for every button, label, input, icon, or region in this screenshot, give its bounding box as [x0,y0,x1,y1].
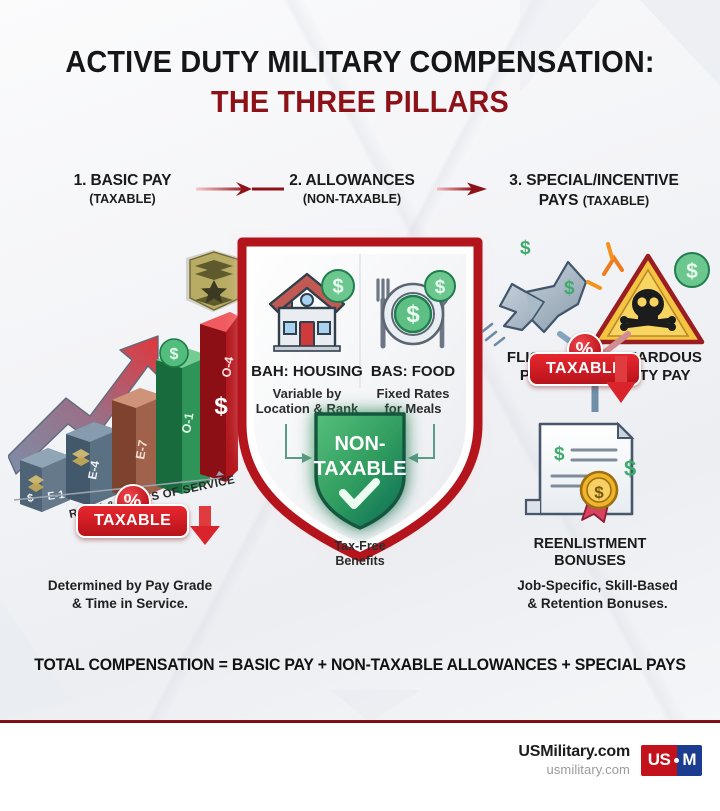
footer-brand: USMilitary.com [518,743,630,761]
svg-text:$: $ [554,444,565,465]
caption-left-line1: Determined by Pay Grade [20,577,240,595]
arrow-right-icon [437,182,489,196]
pillar-header-allowances: 2. ALLOWANCES (NON-TAXABLE) [252,172,452,206]
certificate-icon: $ $ $ [526,424,636,522]
dollar-mark: $ [564,278,575,299]
taxable-badge-basic-pay: % TAXABLE [76,504,189,538]
special-pays-graphic: $ $ $ FLIGHT [482,228,714,568]
svg-text:$: $ [686,260,698,283]
logo-dot-icon [674,758,679,763]
caption-right-line2: & Retention Bonuses. [480,595,715,613]
non-taxable-line1: NON- [334,433,385,455]
pillar-1-sub: (TAXABLE) [40,192,205,206]
svg-text:$: $ [624,456,636,481]
basic-pay-chart-panel: $ E-1 E-4 E-7 [8,228,238,518]
pillar-header-basic-pay: 1. BASIC PAY (TAXABLE) [40,172,205,206]
taxable-label: TAXABLE [76,504,189,538]
pillar-headers: 1. BASIC PAY (TAXABLE) 2. ALLOWANCES (NO… [0,172,720,220]
allowances-shield: $ $ $ BAH: HOUSING BAS: FOOD Variable by… [226,228,494,573]
pillar-header-special-pays: 3. SPECIAL/INCENTIVE PAYS (TAXABLE) [488,172,700,210]
non-taxable-line2: TAXABLE [314,458,407,480]
logo-m-text: M [677,745,702,776]
arrow-down-icon [604,356,638,404]
rank-pay-bar-chart: $ E-1 E-4 E-7 [8,228,238,518]
basic-pay-caption: Determined by Pay Grade & Time in Servic… [20,577,240,613]
caption-right-line1: Job-Specific, Skill-Based [480,577,715,595]
pillar-3-sub-small: (TAXABLE) [583,194,649,208]
fighter-jet-icon: $ $ [482,238,586,345]
reenlistment-line1: REENLISTMENT [534,536,647,552]
caption-left-line2: & Time in Service. [20,595,240,613]
usmilitary-logo[interactable]: US M [641,745,702,776]
svg-text:$: $ [332,276,343,298]
pillar-3-label: 3. SPECIAL/INCENTIVE [488,172,700,190]
special-pays-panel: $ $ $ FLIGHT [482,228,714,568]
bah-title: BAH: HOUSING [251,363,363,380]
page-title: ACTIVE DUTY MILITARY COMPENSATION: THE T… [0,45,720,119]
bah-desc-line1: Variable by [273,386,342,401]
svg-text:$: $ [594,483,604,502]
footer-domain: usmilitary.com [518,762,630,777]
bas-title: BAS: FOOD [371,363,455,380]
taxable-badge-special-pays: % TAXABLE [528,352,641,386]
hazard-skull-icon: $ [588,244,709,344]
arrow-down-icon [188,506,222,546]
allowances-shield-panel: $ $ $ BAH: HOUSING BAS: FOOD Variable by… [226,228,494,573]
title-line-2: THE THREE PILLARS [25,85,695,118]
special-pays-caption: Job-Specific, Skill-Based & Retention Bo… [480,577,715,613]
footer-branding: USMilitary.com usmilitary.com [518,743,630,777]
pillar-2-sub: (NON-TAXABLE) [252,192,452,206]
reenlistment-line2: BONUSES [554,553,626,568]
bas-desc-line1: Fixed Rates [377,386,450,401]
svg-text:$: $ [406,301,420,328]
pillar-1-label: 1. BASIC PAY [40,172,205,190]
bar-e1: $ E-1 [20,448,70,512]
logo-us-text: US [641,745,677,776]
pillar-2-label: 2. ALLOWANCES [252,172,452,190]
footer: USMilitary.com usmilitary.com US M [0,723,720,811]
title-line-1: ACTIVE DUTY MILITARY COMPENSATION: [25,45,695,78]
infographic-canvas: ACTIVE DUTY MILITARY COMPENSATION: THE T… [0,0,720,811]
svg-text:$: $ [170,346,179,363]
tax-free-line1: Tax-Free [334,539,385,553]
pillar-3-sub-main: PAYS [539,192,579,209]
pillar-3-sub: PAYS (TAXABLE) [488,192,700,210]
total-compensation-formula: TOTAL COMPENSATION = BASIC PAY + NON-TAX… [14,656,705,675]
tax-free-line2: Benefits [335,554,384,568]
dollar-mark: $ [520,238,531,259]
svg-text:$: $ [435,277,446,298]
